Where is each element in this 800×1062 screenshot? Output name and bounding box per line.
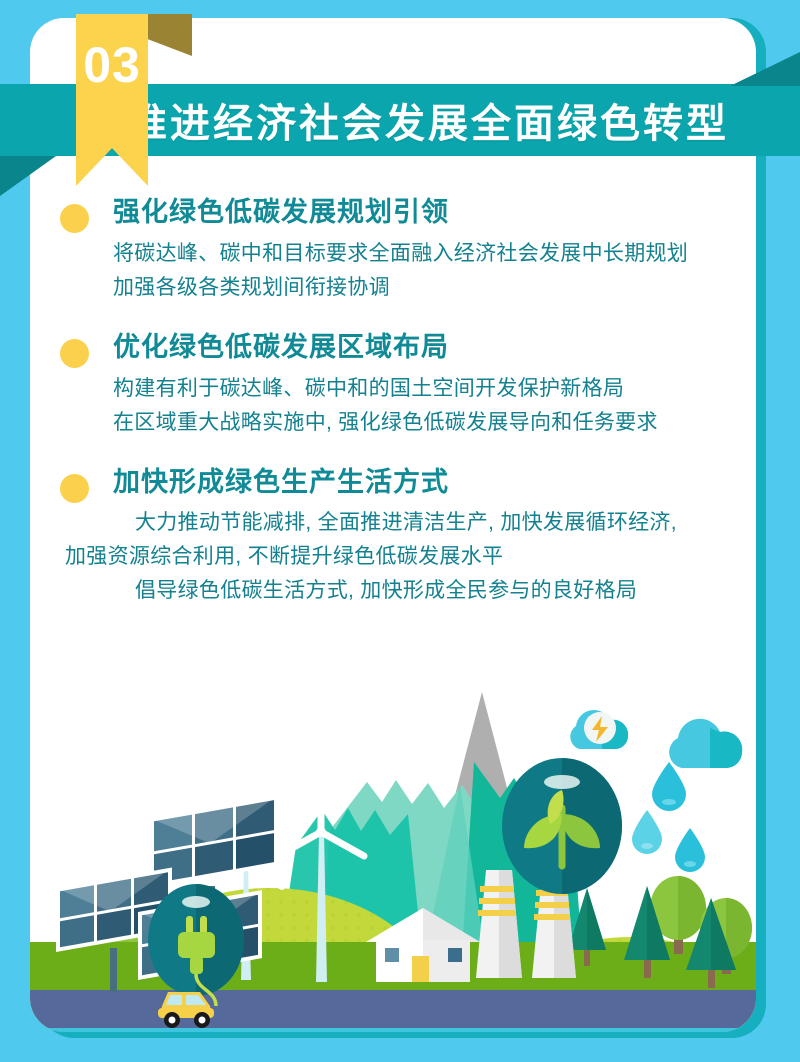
body-line: 将碳达峰、碳中和目标要求全面融入经济社会发展中长期规划 — [113, 237, 760, 271]
bullet-dot-icon — [60, 204, 89, 233]
bullet-dot-icon — [60, 474, 89, 503]
road — [30, 990, 756, 1032]
river — [30, 1028, 756, 1032]
content-list: 强化绿色低碳发展规划引领 将碳达峰、碳中和目标要求全面融入经济社会发展中长期规划… — [60, 196, 760, 608]
body-line: 加强各级各类规划间衔接协调 — [113, 271, 760, 305]
body-line: 加强资源综合利用, 不断提升绿色低碳发展水平 — [65, 540, 760, 574]
body-line: 在区域重大战略实施中, 强化绿色低碳发展导向和任务要求 — [113, 406, 760, 440]
list-item: 优化绿色低碳发展区域布局 构建有利于碳达峰、碳中和的国土空间开发保护新格局 在区… — [60, 331, 760, 440]
section-heading: 加快形成绿色生产生活方式 — [113, 466, 760, 500]
illustration — [30, 690, 756, 1032]
leaf-badge — [502, 758, 622, 894]
list-item: 加快形成绿色生产生活方式 大力推动节能减排, 全面推进清洁生产, 加快发展循环经… — [60, 466, 760, 609]
bullet-dot-icon — [60, 339, 89, 368]
section-heading: 优化绿色低碳发展区域布局 — [113, 331, 760, 365]
section-heading: 强化绿色低碳发展规划引领 — [113, 196, 760, 230]
list-item: 强化绿色低碳发展规划引领 将碳达峰、碳中和目标要求全面融入经济社会发展中长期规划… — [60, 196, 760, 305]
section-body: 构建有利于碳达峰、碳中和的国土空间开发保护新格局 在区域重大战略实施中, 强化绿… — [113, 372, 760, 440]
section-body: 大力推动节能减排, 全面推进清洁生产, 加快发展循环经济, 加强资源综合利用, … — [113, 506, 760, 608]
body-line: 大力推动节能减排, 全面推进清洁生产, 加快发展循环经济, — [135, 506, 760, 540]
infographic-page: 推进经济社会发展全面绿色转型 03 强化绿色低碳发展规划引领 将碳达峰、碳中和目… — [0, 0, 800, 1062]
body-line: 构建有利于碳达峰、碳中和的国土空间开发保护新格局 — [113, 372, 760, 406]
section-number: 03 — [76, 30, 148, 100]
section-body: 将碳达峰、碳中和目标要求全面融入经济社会发展中长期规划 加强各级各类规划间衔接协… — [113, 237, 760, 305]
body-line: 倡导绿色低碳生活方式, 加快形成全民参与的良好格局 — [135, 574, 760, 608]
